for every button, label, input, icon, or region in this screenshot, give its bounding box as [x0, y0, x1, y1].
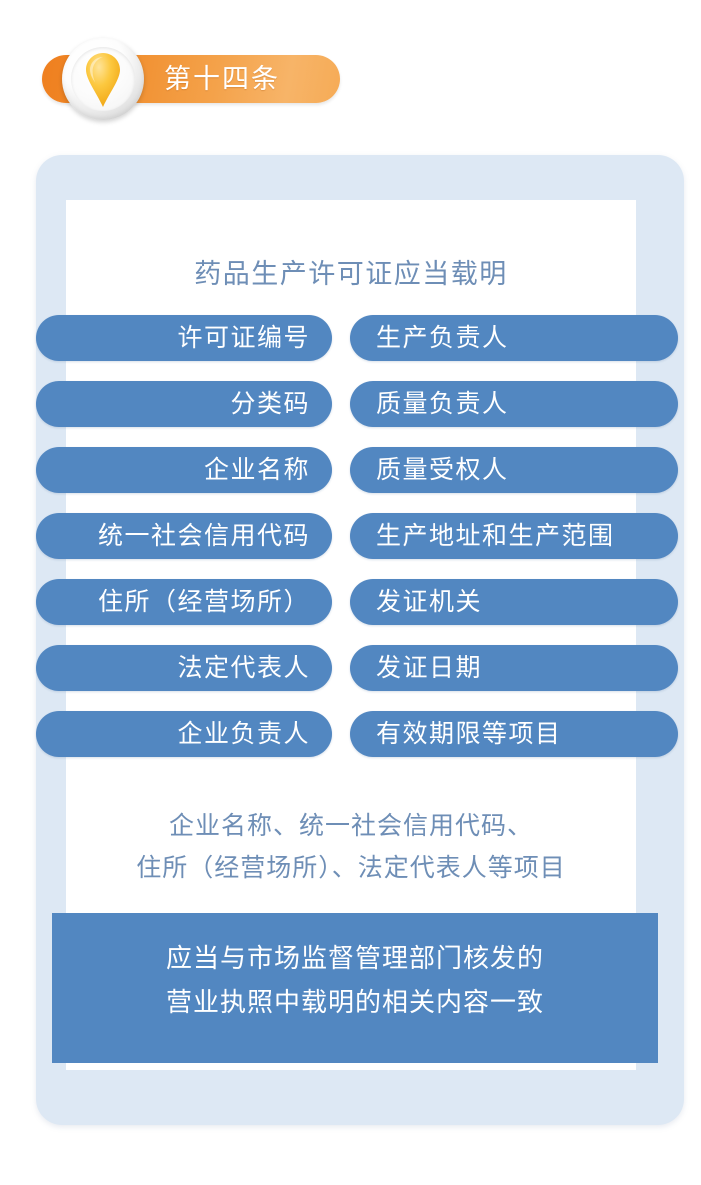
license-item-right[interactable]: 有效期限等项目 — [350, 711, 678, 757]
location-pin-icon — [84, 52, 122, 108]
footnote-line-1: 企业名称、统一社会信用代码、 — [66, 805, 636, 847]
license-item-right[interactable]: 发证机关 — [350, 579, 678, 625]
callout-box: 应当与市场监督管理部门核发的 营业执照中载明的相关内容一致 — [52, 913, 658, 1063]
list-item-row: 法定代表人 发证日期 — [0, 645, 701, 711]
list-item-row: 企业负责人 有效期限等项目 — [0, 711, 701, 777]
license-item-right[interactable]: 质量受权人 — [350, 447, 678, 493]
page-title: 药品生产许可证应当载明 — [66, 252, 636, 291]
callout-line-2: 营业执照中载明的相关内容一致 — [52, 980, 658, 1024]
license-item-left[interactable]: 企业负责人 — [36, 711, 332, 757]
license-item-left[interactable]: 法定代表人 — [36, 645, 332, 691]
list-item-row: 企业名称 质量受权人 — [0, 447, 701, 513]
list-item-row: 住所（经营场所） 发证机关 — [0, 579, 701, 645]
license-item-left[interactable]: 统一社会信用代码 — [36, 513, 332, 559]
footnote-text: 企业名称、统一社会信用代码、 住所（经营场所）、法定代表人等项目 — [66, 805, 636, 889]
license-item-left[interactable]: 企业名称 — [36, 447, 332, 493]
license-item-right[interactable]: 生产负责人 — [350, 315, 678, 361]
license-item-left[interactable]: 分类码 — [36, 381, 332, 427]
list-item-row: 许可证编号 生产负责人 — [0, 315, 701, 381]
license-item-right[interactable]: 质量负责人 — [350, 381, 678, 427]
footnote-line-2: 住所（经营场所）、法定代表人等项目 — [66, 847, 636, 889]
badge-orb — [62, 38, 144, 120]
license-item-left[interactable]: 住所（经营场所） — [36, 579, 332, 625]
list-item-row: 分类码 质量负责人 — [0, 381, 701, 447]
list-item-row: 统一社会信用代码 生产地址和生产范围 — [0, 513, 701, 579]
article-header-badge: 第十四条 — [42, 55, 340, 103]
license-item-right[interactable]: 发证日期 — [350, 645, 678, 691]
article-number-label: 第十四条 — [164, 55, 280, 103]
license-items-list: 许可证编号 生产负责人 分类码 质量负责人 企业名称 质量受权人 统一社会信用代… — [0, 315, 701, 777]
callout-line-1: 应当与市场监督管理部门核发的 — [52, 936, 658, 980]
license-item-left[interactable]: 许可证编号 — [36, 315, 332, 361]
license-item-right[interactable]: 生产地址和生产范围 — [350, 513, 678, 559]
